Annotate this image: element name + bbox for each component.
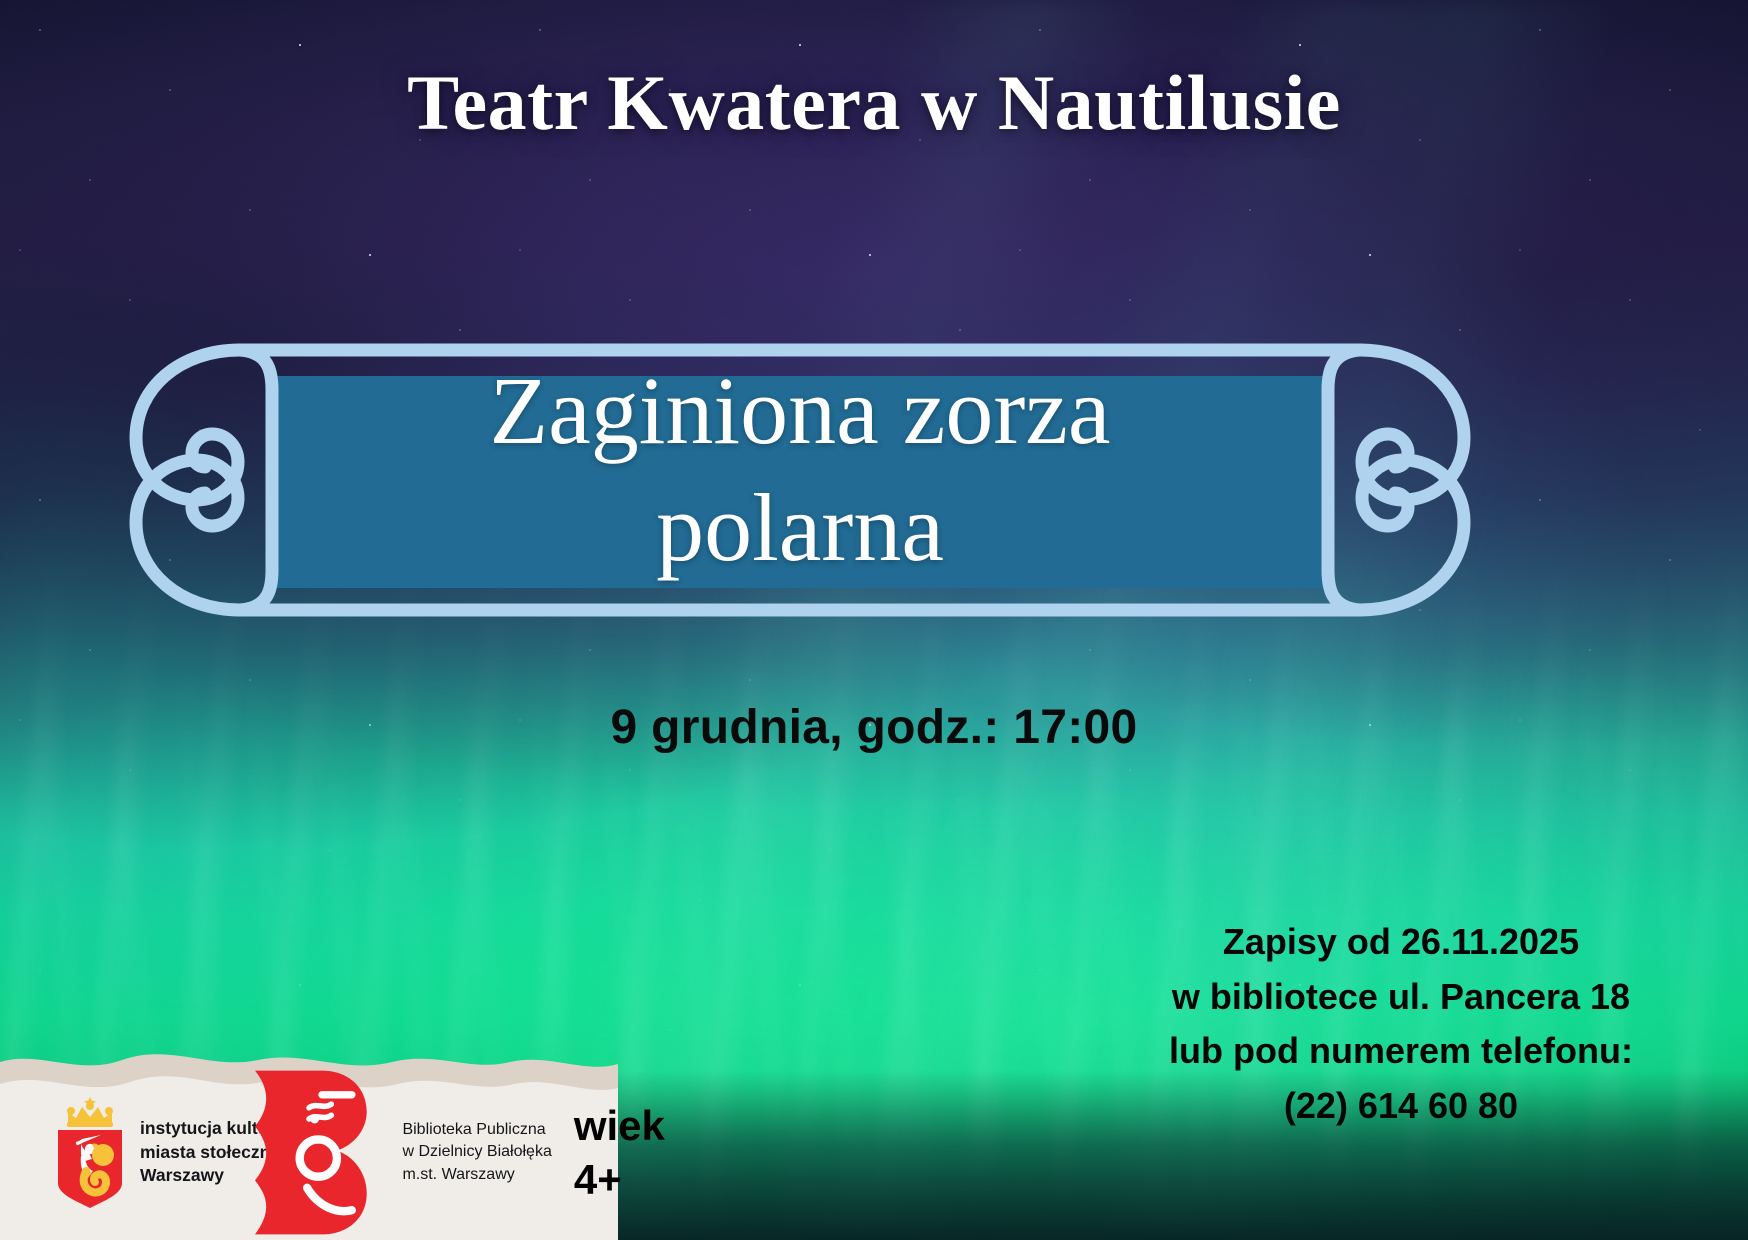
library-logo: Biblioteka Publiczna w Dzielnicy Białołę… (301, 1106, 551, 1200)
show-title: Zaginiona zorza polarna (370, 352, 1230, 586)
event-datetime: 9 grudnia, godz.: 17:00 (0, 700, 1748, 755)
library-b-icon (325, 1106, 391, 1200)
footer-paper-strip: instytucja kultury miasta stołecznego Wa… (0, 1010, 618, 1240)
title-banner: Zaginiona zorza polarna (120, 330, 1480, 630)
show-title-line-2: polarna (370, 469, 1230, 586)
registration-line-2: w bibliotece ul. Pancera 18 (1169, 970, 1633, 1025)
show-title-line-1: Zaginiona zorza (370, 352, 1230, 469)
registration-info: Zapisy od 26.11.2025 w bibliotece ul. Pa… (1169, 915, 1633, 1134)
poster-root: Teatr Kwatera w Nautilusie (0, 0, 1748, 1240)
registration-line-1: Zapisy od 26.11.2025 (1169, 915, 1633, 970)
registration-phone: (22) 614 60 80 (1169, 1079, 1633, 1134)
registration-line-3: lub pod numerem telefonu: (1169, 1024, 1633, 1079)
page-title: Teatr Kwatera w Nautilusie (0, 58, 1748, 148)
footer-logos-row: instytucja kultury miasta stołecznego Wa… (0, 1065, 618, 1240)
